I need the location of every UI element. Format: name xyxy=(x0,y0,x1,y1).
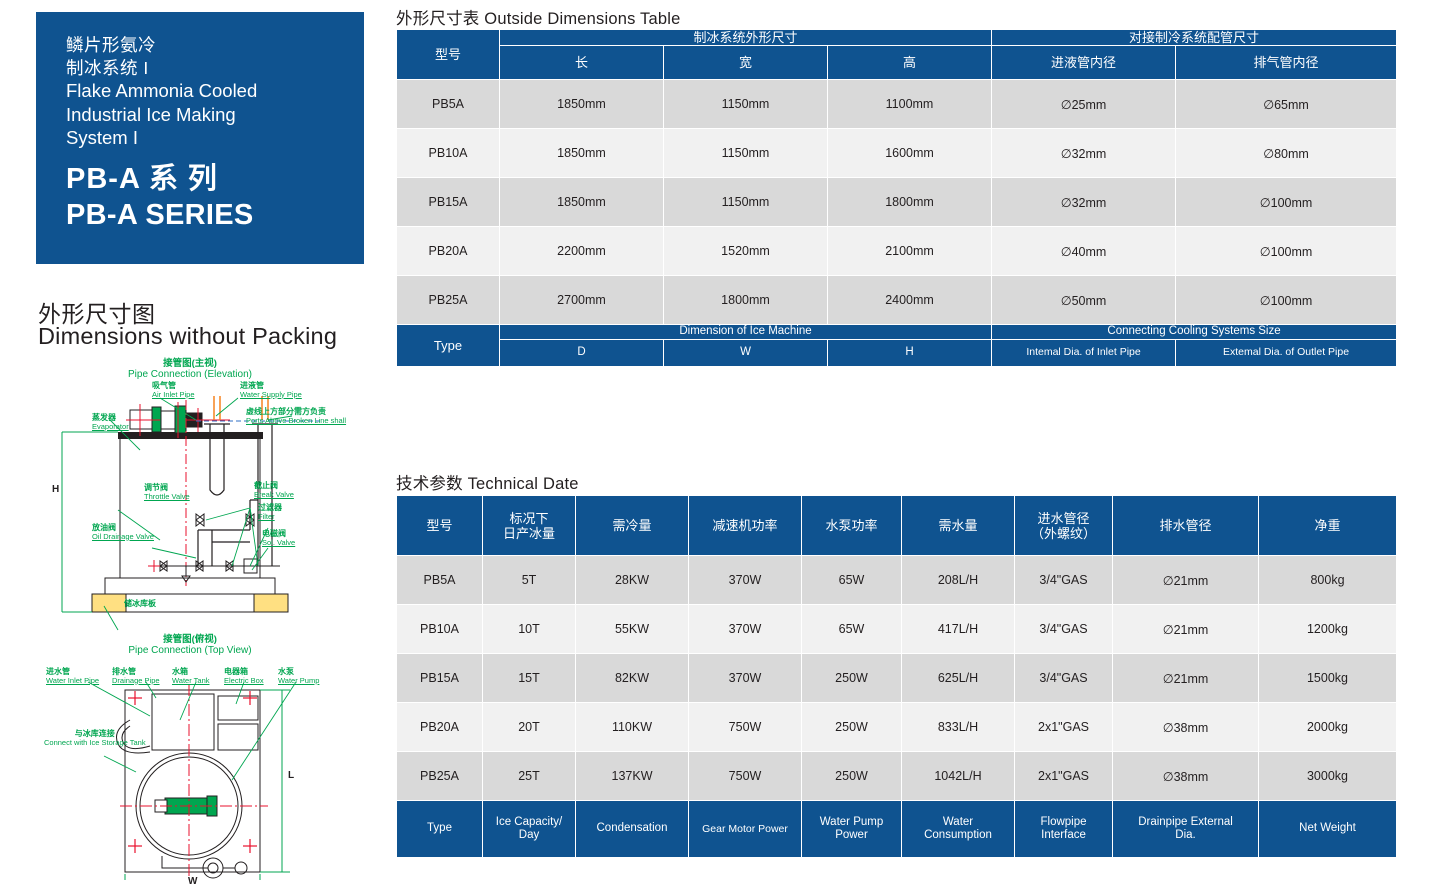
label-water-inlet-pipe: 进水管 Water Inlet Pipe xyxy=(46,668,99,685)
table2-r3-flow: 2x1"GAS xyxy=(1015,703,1113,752)
table1-r2-inlet: ∅32mm xyxy=(992,178,1176,227)
table-row: PB10A 1850mm 1150mm 1600mm ∅32mm ∅80mm xyxy=(397,129,1397,178)
label-air-inlet-pipe-en: Air Inlet Pipe xyxy=(152,391,195,400)
table1-r3-d: 2200mm xyxy=(500,227,664,276)
table2-footer-flow-en: Flowpipe Interface xyxy=(1015,801,1113,858)
table2-footer-ice-en: Ice Capacity/ Day xyxy=(483,801,576,858)
table2-footer-pump-en-l2: Power xyxy=(835,829,868,841)
table2-footer-ice-en-l2: Day xyxy=(519,829,539,841)
label-connect-ice-storage: 与冰库连接 Connect with Ice Storage Tank xyxy=(44,730,146,747)
table2-r3-gear: 750W xyxy=(689,703,802,752)
table2-r2-cond: 82KW xyxy=(576,654,689,703)
label-water-pump: 水泵 Water Pump xyxy=(278,668,319,685)
table2-footer-flow-en-l2: Interface xyxy=(1041,829,1086,841)
table2-r1-ice: 10T xyxy=(483,605,576,654)
table2-r0-drain: ∅21mm xyxy=(1113,556,1259,605)
table2-footer-drain-en-l2: Dia. xyxy=(1175,829,1195,841)
table1-subheader-height-cn: 高 xyxy=(828,46,992,80)
table-row: PB25A 25T 137KW 750W 250W 1042L/H 2x1"GA… xyxy=(397,752,1397,801)
dimension-mark-w: W xyxy=(188,876,197,887)
table2-footer-flow-en-l1: Flowpipe xyxy=(1040,816,1086,828)
table1-r0-d: 1850mm xyxy=(500,80,664,129)
table2-header-gear-cn: 减速机功率 xyxy=(689,496,802,556)
table2-header-water-cn: 需水量 xyxy=(902,496,1015,556)
table-row: PB20A 2200mm 1520mm 2100mm ∅40mm ∅100mm xyxy=(397,227,1397,276)
cover-title-en-line1: Flake Ammonia Cooled xyxy=(66,79,364,103)
table1-r4-model: PB25A xyxy=(397,276,500,325)
table2-header-ice-cn: 标况下 日产冰量 xyxy=(483,496,576,556)
label-water-tank: 水箱 Water Tank xyxy=(172,668,210,685)
label-ice-storage-board-cn: 储冰库板 xyxy=(124,600,156,609)
table-row: PB20A 20T 110KW 750W 250W 833L/H 2x1"GAS… xyxy=(397,703,1397,752)
table2-header-drain-cn: 排水管径 xyxy=(1113,496,1259,556)
table1-subheader-row: 长 宽 高 进液管内径 排气管内径 xyxy=(397,46,1397,80)
table2-footer-gear-en: Gear Motor Power xyxy=(689,801,802,858)
table1-group-header-2-en: Connecting Cooling Systems Size xyxy=(992,325,1397,340)
table1-r4-inlet: ∅50mm xyxy=(992,276,1176,325)
table2-r1-gear: 370W xyxy=(689,605,802,654)
table1-r4-h: 2400mm xyxy=(828,276,992,325)
table2-header-row: 型号 标况下 日产冰量 需冷量 减速机功率 水泵功率 需水量 进水管径 （外螺纹… xyxy=(397,496,1397,556)
table2-header-model-cn-l1: 型号 xyxy=(397,516,482,535)
table2-r0-ice: 5T xyxy=(483,556,576,605)
table2-r3-pump: 250W xyxy=(802,703,902,752)
table1-title: 外形尺寸表 Outside Dimensions Table xyxy=(396,5,680,29)
table1-subheader-inlet-cn: 进液管内径 xyxy=(992,46,1176,80)
table2-r1-cond: 55KW xyxy=(576,605,689,654)
label-water-supply-pipe: 进液管 Water Supply Pipe xyxy=(240,382,302,399)
label-throttle-valve-en: Throttle Valve xyxy=(144,493,190,502)
table1-r3-inlet: ∅40mm xyxy=(992,227,1176,276)
table2-footer-cond-en: Condensation xyxy=(576,801,689,858)
cover-title-cn-line2: 制冰系统 I xyxy=(66,57,364,80)
label-ice-storage-board: 储冰库板 xyxy=(124,600,156,609)
table2-header-flow-cn-l2: （外螺纹） xyxy=(1031,526,1096,541)
table2-r4-gear: 750W xyxy=(689,752,802,801)
table2-r2-pump: 250W xyxy=(802,654,902,703)
table1-subheader-width-cn: 宽 xyxy=(664,46,828,80)
table2-r4-weight: 3000kg xyxy=(1259,752,1397,801)
table1-r3-w: 1520mm xyxy=(664,227,828,276)
table1-header-row-group: 型号 制冰系统外形尺寸 对接制冷系统配管尺寸 xyxy=(397,30,1397,46)
label-filter-en: Filter xyxy=(258,513,282,522)
table2-r2-ice: 15T xyxy=(483,654,576,703)
table2-footer-ice-en-l1: Ice Capacity/ xyxy=(496,816,562,828)
table2-r0-cond: 28KW xyxy=(576,556,689,605)
table1-r0-w: 1150mm xyxy=(664,80,828,129)
table2-footer-water-en: Water Consumption xyxy=(902,801,1015,858)
table1-group-header-2-cn: 对接制冷系统配管尺寸 xyxy=(992,30,1397,46)
table2-r1-model: PB10A xyxy=(397,605,483,654)
label-ports-above-broken-line-en: Ports Above Broken Line shall xyxy=(246,417,346,426)
table2-header-flow-cn: 进水管径 （外螺纹） xyxy=(1015,496,1113,556)
table2-r4-ice: 25T xyxy=(483,752,576,801)
table-row: PB15A 15T 82KW 370W 250W 625L/H 3/4"GAS … xyxy=(397,654,1397,703)
table1-r3-h: 2100mm xyxy=(828,227,992,276)
table1-subheader-outlet-cn: 排气管内径 xyxy=(1176,46,1397,80)
table2-footer-drain-en-l1: Drainpipe External xyxy=(1138,816,1233,828)
label-water-pump-en: Water Pump xyxy=(278,677,319,686)
outside-dimensions-table: 型号 制冰系统外形尺寸 对接制冷系统配管尺寸 长 宽 高 进液管内径 排气管内径… xyxy=(396,29,1397,367)
table1-r3-outlet: ∅100mm xyxy=(1176,227,1397,276)
table1-r2-h: 1800mm xyxy=(828,178,992,227)
label-evaporator-en: Evaporator xyxy=(92,423,129,432)
table2-r1-weight: 1200kg xyxy=(1259,605,1397,654)
dimension-mark-l: L xyxy=(288,770,294,781)
table-row: PB10A 10T 55KW 370W 65W 417L/H 3/4"GAS ∅… xyxy=(397,605,1397,654)
topview-caption-cn: 接管图(俯视) xyxy=(60,634,320,645)
table2-header-weight-cn: 净重 xyxy=(1259,496,1397,556)
table1-footer-row-group: Type Dimension of Ice Machine Connecting… xyxy=(397,325,1397,340)
topview-caption-en: Pipe Connection (Top View) xyxy=(60,645,320,657)
table2-r3-water: 833L/H xyxy=(902,703,1015,752)
diagrams-wrapper: 接管图(主视) Pipe Connection (Elevation) xyxy=(0,352,382,882)
label-filter: 过滤器 Filter xyxy=(258,504,282,521)
table2-r2-water: 625L/H xyxy=(902,654,1015,703)
table2-r4-drain: ∅38mm xyxy=(1113,752,1259,801)
table2-r1-pump: 65W xyxy=(802,605,902,654)
table1-col-model-en: Type xyxy=(397,325,500,367)
table1-r0-model: PB5A xyxy=(397,80,500,129)
table2-r4-pump: 250W xyxy=(802,752,902,801)
table1-r0-h: 1100mm xyxy=(828,80,992,129)
table2-r3-model: PB20A xyxy=(397,703,483,752)
table1-r1-model: PB10A xyxy=(397,129,500,178)
table2-footer-drain-en: Drainpipe External Dia. xyxy=(1113,801,1259,858)
cover-title-box: 鳞片形氨冷 制冰系统 I Flake Ammonia Cooled Indust… xyxy=(36,12,364,264)
table2-footer-water-en-l1: Water xyxy=(943,816,973,828)
table2-r4-flow: 2x1"GAS xyxy=(1015,752,1113,801)
table2-r4-model: PB25A xyxy=(397,752,483,801)
cover-series-cn: PB-A 系 列 xyxy=(66,161,364,198)
table2-r2-drain: ∅21mm xyxy=(1113,654,1259,703)
label-throttle-valve: 调节阀 Throttle Valve xyxy=(144,484,190,501)
table1-r0-inlet: ∅25mm xyxy=(992,80,1176,129)
table1-r2-w: 1150mm xyxy=(664,178,828,227)
table-row: PB5A 1850mm 1150mm 1100mm ∅25mm ∅65mm xyxy=(397,80,1397,129)
table1-subheader-d-en: D xyxy=(500,339,664,366)
table1-r2-d: 1850mm xyxy=(500,178,664,227)
table2-r1-drain: ∅21mm xyxy=(1113,605,1259,654)
table2-r4-cond: 137KW xyxy=(576,752,689,801)
table2-r2-gear: 370W xyxy=(689,654,802,703)
label-electric-box-en: Electric Box xyxy=(224,677,264,686)
label-sol-valve-en: Sol. Valve xyxy=(262,539,295,548)
table1-r4-outlet: ∅100mm xyxy=(1176,276,1397,325)
label-water-supply-pipe-en: Water Supply Pipe xyxy=(240,391,302,400)
table1-r1-w: 1150mm xyxy=(664,129,828,178)
table2-r0-pump: 65W xyxy=(802,556,902,605)
label-break-valve-en: Break Valve xyxy=(254,491,294,500)
table2-title: 技术参数 Technical Date xyxy=(396,470,579,494)
table1-subheader-w-en: W xyxy=(664,339,828,366)
label-drainage-pipe-en: Drainage Pipe xyxy=(112,677,160,686)
cover-title-en-line2: Industrial Ice Making xyxy=(66,103,364,127)
table2-r2-model: PB15A xyxy=(397,654,483,703)
label-connect-ice-storage-en: Connect with Ice Storage Tank xyxy=(44,739,146,748)
table1-r1-inlet: ∅32mm xyxy=(992,129,1176,178)
table1-footer-subrow: D W H Intemal Dia. of Inlet Pipe Extemal… xyxy=(397,339,1397,366)
table1-group-header-1-en: Dimension of Ice Machine xyxy=(500,325,992,340)
label-water-tank-en: Water Tank xyxy=(172,677,210,686)
cover-series-en: PB-A SERIES xyxy=(66,198,364,233)
table2-footer-water-en-l2: Consumption xyxy=(924,829,992,841)
cover-title-en-line3: System I xyxy=(66,126,364,150)
table2-r1-flow: 3/4"GAS xyxy=(1015,605,1113,654)
table1-col-model-cn: 型号 xyxy=(397,30,500,80)
dimensions-heading-en: Dimensions without Packing xyxy=(38,323,337,350)
table2-r0-weight: 800kg xyxy=(1259,556,1397,605)
table2-header-ice-cn-l1: 标况下 xyxy=(509,511,548,526)
table2-footer-pump-en-l1: Water Pump xyxy=(820,816,883,828)
label-drainage-pipe: 排水管 Drainage Pipe xyxy=(112,668,160,685)
label-oil-drainage-valve-en: Oil Drainage Valve xyxy=(92,533,154,542)
elevation-caption-cn: 接管图(主视) xyxy=(60,358,320,369)
table1-r4-w: 1800mm xyxy=(664,276,828,325)
table2-header-ice-cn-l2: 日产冰量 xyxy=(503,526,555,541)
table2-r3-ice: 20T xyxy=(483,703,576,752)
dimension-mark-h: H xyxy=(52,484,59,495)
label-electric-box: 电器箱 Electric Box xyxy=(224,668,264,685)
table1-r2-model: PB15A xyxy=(397,178,500,227)
table-row: PB25A 2700mm 1800mm 2400mm ∅50mm ∅100mm xyxy=(397,276,1397,325)
table-row: PB5A 5T 28KW 370W 65W 208L/H 3/4"GAS ∅21… xyxy=(397,556,1397,605)
elevation-caption: 接管图(主视) Pipe Connection (Elevation) xyxy=(60,358,320,381)
table1-r1-outlet: ∅80mm xyxy=(1176,129,1397,178)
table2-r1-water: 417L/H xyxy=(902,605,1015,654)
table2-r0-gear: 370W xyxy=(689,556,802,605)
table2-r3-weight: 2000kg xyxy=(1259,703,1397,752)
table2-r3-cond: 110KW xyxy=(576,703,689,752)
label-water-inlet-pipe-en: Water Inlet Pipe xyxy=(46,677,99,686)
label-evaporator: 蒸发器 Evaporator xyxy=(92,414,129,431)
table1-r2-outlet: ∅100mm xyxy=(1176,178,1397,227)
table1-r0-outlet: ∅65mm xyxy=(1176,80,1397,129)
technical-data-table: 型号 标况下 日产冰量 需冷量 减速机功率 水泵功率 需水量 进水管径 （外螺纹… xyxy=(396,495,1397,858)
table2-footer-pump-en: Water Pump Power xyxy=(802,801,902,858)
table-row: PB15A 1850mm 1150mm 1800mm ∅32mm ∅100mm xyxy=(397,178,1397,227)
table2-r2-flow: 3/4"GAS xyxy=(1015,654,1113,703)
table2-r3-drain: ∅38mm xyxy=(1113,703,1259,752)
left-column: 鳞片形氨冷 制冰系统 I Flake Ammonia Cooled Indust… xyxy=(0,0,382,881)
label-oil-drainage-valve: 放油阀 Oil Drainage Valve xyxy=(92,524,154,541)
table2-header-pump-cn: 水泵功率 xyxy=(802,496,902,556)
table1-r3-model: PB20A xyxy=(397,227,500,276)
table1-subheader-outlet-en: Extemal Dia. of Outlet Pipe xyxy=(1176,339,1397,366)
table1-subheader-length-cn: 长 xyxy=(500,46,664,80)
table2-r2-weight: 1500kg xyxy=(1259,654,1397,703)
label-air-inlet-pipe: 吸气管 Air Inlet Pipe xyxy=(152,382,195,399)
table2-header-model-cn: 型号 xyxy=(397,496,483,556)
table2-r0-water: 208L/H xyxy=(902,556,1015,605)
table2-r0-flow: 3/4"GAS xyxy=(1015,556,1113,605)
table1-subheader-inlet-en: Intemal Dia. of Inlet Pipe xyxy=(992,339,1176,366)
table2-r4-water: 1042L/H xyxy=(902,752,1015,801)
table2-header-cond-cn: 需冷量 xyxy=(576,496,689,556)
label-sol-valve: 电磁阀 Sol. Valve xyxy=(262,530,295,547)
label-ports-above-broken-line: 虚线上方部分需方负责 Ports Above Broken Line shall xyxy=(246,408,346,425)
topview-caption: 接管图(俯视) Pipe Connection (Top View) xyxy=(60,634,320,657)
table1-subheader-h-en: H xyxy=(828,339,992,366)
table1-r1-d: 1850mm xyxy=(500,129,664,178)
topview-drawing xyxy=(0,660,382,880)
table2-footer-type-en: Type xyxy=(397,801,483,858)
table2-footer-row: Type Ice Capacity/ Day Condensation Gear… xyxy=(397,801,1397,858)
table1-r1-h: 1600mm xyxy=(828,129,992,178)
cover-title-cn-line1: 鳞片形氨冷 xyxy=(66,34,364,57)
label-break-valve: 截止阀 Break Valve xyxy=(254,482,294,499)
table1-group-header-1-cn: 制冰系统外形尺寸 xyxy=(500,30,992,46)
table2-header-flow-cn-l1: 进水管径 xyxy=(1037,511,1089,526)
table1-r4-d: 2700mm xyxy=(500,276,664,325)
table2-footer-weight-en: Net Weight xyxy=(1259,801,1397,858)
table2-r0-model: PB5A xyxy=(397,556,483,605)
